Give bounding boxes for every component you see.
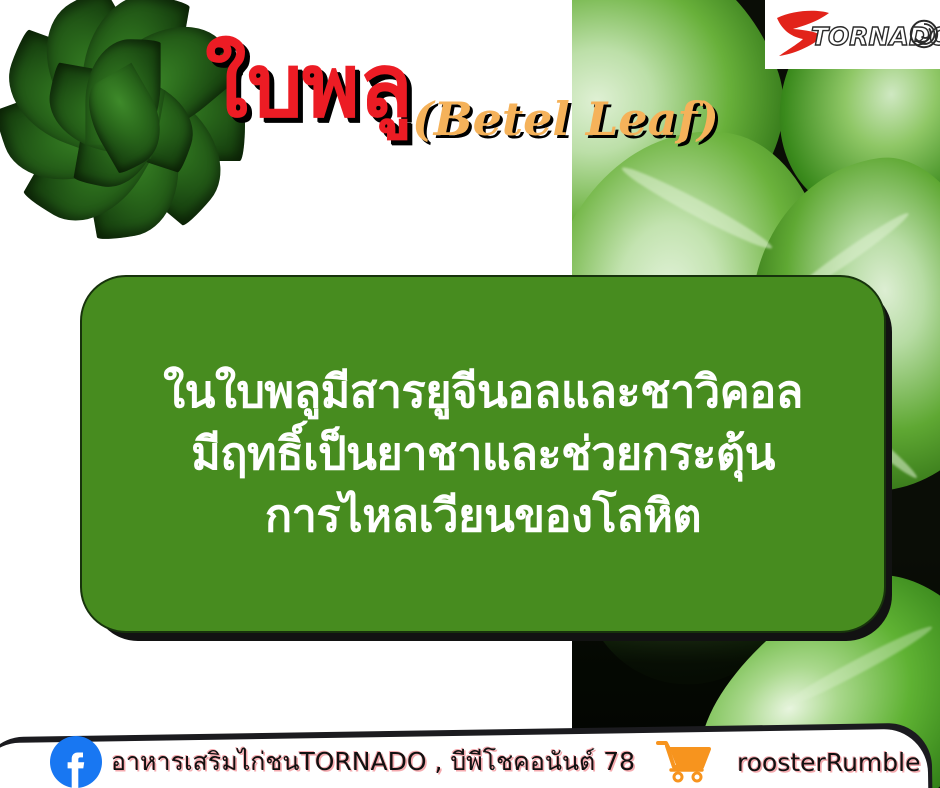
- content-line: มีฤทธิ์เป็นยาชาและช่วยกระตุ้น: [191, 423, 775, 485]
- shopping-cart-icon[interactable]: [656, 740, 712, 784]
- tornado-logo: TORNADO: [765, 0, 940, 69]
- page-title-english: (Betel Leaf): [412, 92, 719, 146]
- shop-name[interactable]: roosterRumble: [737, 748, 920, 777]
- content-card: ในใบพลูมีสารยูจีนอลและชาวิคอล มีฤทธิ์เป็…: [80, 275, 886, 633]
- tornado-spiral-icon: [909, 19, 939, 49]
- content-line: ในใบพลูมีสารยูจีนอลและชาวิคอล: [163, 361, 803, 423]
- content-line: การไหลเวียนของโลหิต: [265, 485, 701, 547]
- footer-content: อาหารเสริมไก่ชนTORNADO , บีพีโชคอนันต์ 7…: [24, 736, 940, 788]
- facebook-page-name[interactable]: อาหารเสริมไก่ชนTORNADO , บีพีโชคอนันต์ 7…: [111, 742, 635, 782]
- page-title-thai: ใบพลู: [205, 42, 412, 130]
- facebook-icon[interactable]: [50, 736, 102, 788]
- poster-canvas: ใบพลู (Betel Leaf) TORNADO ในใบพลูมีสารย…: [0, 0, 940, 788]
